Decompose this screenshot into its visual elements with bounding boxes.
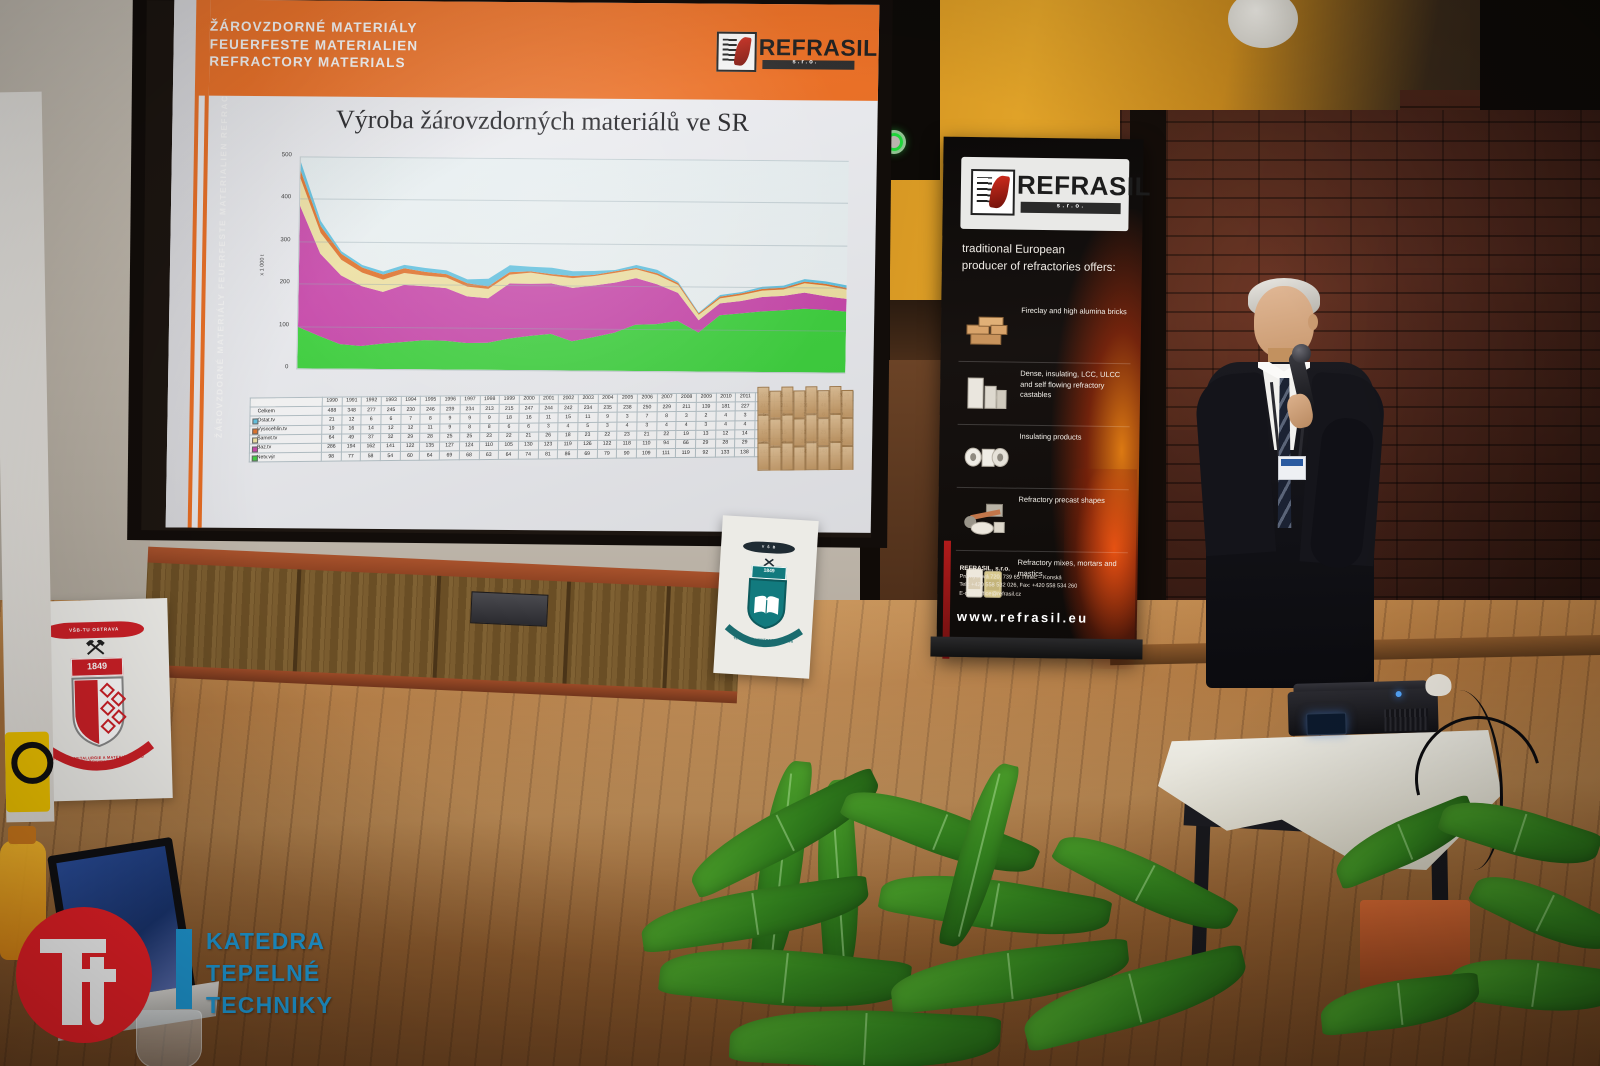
table-cell: 119	[558, 441, 578, 450]
table-cell: 3	[538, 422, 558, 431]
table-cell: 211	[677, 403, 697, 412]
table-year-header: 2009	[696, 393, 716, 402]
table-cell: 74	[518, 450, 538, 459]
banner-logo-panel: REFRASIL s.r.o.	[960, 157, 1129, 231]
banner-product-label: Insulating products	[1019, 432, 1129, 444]
chart-plot-area	[296, 156, 849, 373]
plaque-crossed-hammers-icon	[762, 554, 777, 565]
refractory-brick	[769, 419, 781, 447]
table-year-header: 1993	[381, 396, 401, 405]
table-cell: 122	[597, 440, 617, 449]
table-cell: 8	[479, 423, 499, 432]
presenter	[1196, 278, 1382, 688]
table-year-header: 2000	[519, 395, 539, 404]
refractory-brick	[757, 387, 769, 415]
table-cell: 126	[577, 440, 597, 449]
table-cell: 19	[676, 430, 696, 439]
wall-speaker	[470, 591, 548, 626]
foreground-plant	[640, 740, 1260, 1066]
precast-shapes-icon	[962, 498, 1009, 539]
table-year-header: 2006	[637, 394, 657, 403]
table-cell: 23	[479, 432, 499, 441]
vsb-top-ribbon: VŠB-TU OSTRAVA	[44, 621, 144, 640]
table-cell: 28	[420, 433, 440, 442]
table-cell: 162	[361, 443, 381, 452]
table-cell: 18	[499, 414, 519, 423]
watermark-line-1: KATEDRA	[206, 925, 333, 957]
banner-product-label: Refractory precast shapes	[1019, 495, 1129, 507]
watermark-logo-circle	[16, 907, 152, 1043]
refractory-brick	[829, 386, 841, 414]
table-cell: 245	[381, 406, 401, 415]
refractory-brick	[781, 415, 793, 443]
presentation-slide: ŽÁROVZDORNÉ MATERIÁLY FEUERFESTE MATERIA…	[166, 0, 880, 533]
table-cell: 22	[656, 430, 676, 439]
refractory-brick	[817, 418, 829, 446]
table-cell: 130	[518, 441, 538, 450]
refractory-brick	[817, 390, 829, 418]
chart-y-tick: 400	[257, 194, 291, 200]
table-cell: 9	[440, 423, 460, 432]
chart-y-tick: 500	[258, 152, 292, 158]
banner-product-item: Insulating products	[957, 424, 1130, 489]
refractory-brick	[793, 418, 805, 446]
refractory-brick	[793, 390, 805, 418]
table-cell: 18	[558, 431, 578, 440]
refractory-brick	[829, 442, 841, 470]
table-cell: 9	[440, 414, 460, 423]
table-cell: 118	[617, 440, 637, 449]
refractory-brick	[757, 443, 769, 471]
refractory-brick	[769, 447, 781, 471]
slide-header-line-de: FEUERFESTE MATERIALIEN	[210, 35, 419, 54]
refrasil-mark-icon	[716, 32, 757, 72]
banner-refrasil-mark-icon	[971, 169, 1016, 216]
watermark-letter-t-stem	[90, 957, 104, 1025]
wood-cabinet	[142, 547, 742, 704]
table-cell: 13	[696, 430, 716, 439]
slide-refrasil-logo: REFRASIL s.r.o.	[716, 32, 857, 75]
refractory-brick	[793, 446, 805, 470]
refractory-brick	[781, 387, 793, 415]
table-cell: 29	[735, 439, 754, 448]
table-cell: 4	[676, 421, 696, 430]
table-year-header: 2008	[677, 393, 697, 402]
table-cell: 26	[538, 432, 558, 441]
vsb-year-badge: 1849	[71, 657, 123, 676]
table-cell: 29	[400, 433, 420, 442]
projector-lens-icon	[1306, 712, 1347, 735]
table-cell: 11	[578, 413, 598, 422]
banner-contact-block: REFRASIL, s.r.o. Průmyslová 720, 739 65 …	[959, 565, 1119, 600]
conference-badge	[1278, 456, 1306, 480]
table-cell: 4	[657, 421, 677, 430]
table-cell: 5	[578, 422, 598, 431]
table-cell: 14	[361, 424, 381, 433]
vsb-plaque-board: V Š B 1849 TECHNICKÁ UNIVERZITA OSTRAVA	[713, 515, 818, 679]
table-cell: 12	[342, 415, 362, 424]
refractory-brick	[805, 442, 817, 470]
table-cell: 122	[400, 442, 420, 451]
table-cell: 64	[499, 450, 519, 459]
chart-y-tick: 0	[254, 364, 288, 370]
table-year-header: 1996	[440, 396, 460, 405]
table-cell: 139	[696, 402, 716, 411]
table-cell: 3	[617, 412, 637, 421]
table-cell: 6	[519, 423, 539, 432]
table-cell: 25	[459, 432, 479, 441]
table-cell: 127	[440, 442, 460, 451]
watermark-blue-bar	[176, 929, 192, 1009]
watermark-line-2: TEPELNÉ	[206, 957, 333, 989]
table-cell: 37	[361, 433, 381, 442]
table-cell: 11	[420, 424, 440, 433]
table-cell: 94	[656, 439, 676, 448]
table-cell: 32	[381, 433, 401, 442]
table-year-header: 2007	[657, 394, 677, 403]
microphone-head-icon	[1292, 344, 1311, 363]
table-cell: 194	[341, 443, 361, 452]
table-year-header: 2011	[736, 393, 755, 402]
table-year-header: 2004	[598, 394, 618, 403]
table-cell: 92	[695, 448, 715, 457]
watermark-letter-t-bar	[80, 969, 116, 982]
left-banner-yellow-graphic	[5, 732, 50, 813]
table-cell: 8	[460, 423, 480, 432]
table-cell: 3	[676, 412, 696, 421]
table-cell: 66	[676, 439, 696, 448]
insulating-tubes-icon	[963, 435, 1010, 476]
slide-header-text: ŽÁROVZDORNÉ MATERIÁLY FEUERFESTE MATERIA…	[209, 18, 418, 72]
table-cell: 105	[499, 441, 519, 450]
table-cell: 4	[716, 411, 736, 420]
chart-y-axis-label: x 1 000 t	[259, 255, 265, 276]
fireclay-bricks-icon	[965, 309, 1012, 350]
table-cell: 230	[401, 405, 421, 414]
banner-logo-bar: s.r.o.	[1021, 202, 1121, 214]
table-cell: 3	[696, 421, 716, 430]
table-legend-swatch	[252, 419, 258, 425]
table-cell: 2	[696, 412, 716, 421]
projection-screen-frame: ŽÁROVZDORNÉ MATERIÁLY FEUERFESTE MATERIA…	[127, 0, 893, 548]
slide-header-line-cs: ŽÁROVZDORNÉ MATERIÁLY	[210, 18, 419, 37]
table-year-header: 2001	[539, 395, 559, 404]
table-cell: 9	[460, 414, 480, 423]
table-cell: 60	[400, 451, 420, 460]
chart-y-tick: 300	[256, 237, 290, 243]
refrasil-sub-text: s.r.o.	[792, 59, 818, 65]
table-cell: 3	[735, 411, 754, 420]
table-cell: 111	[656, 449, 676, 458]
table-year-header: 1990	[322, 397, 342, 406]
table-cell: 234	[578, 404, 598, 413]
table-cell: 23	[578, 431, 598, 440]
table-cell: 8	[420, 414, 440, 423]
table-cell: 123	[538, 441, 558, 450]
table-cell: 63	[479, 451, 499, 460]
refractory-brick	[769, 391, 781, 419]
refrasil-wordmark: REFRASIL	[758, 34, 877, 62]
table-cell: 141	[380, 442, 400, 451]
table-cell: 15	[558, 413, 578, 422]
table-cell: 239	[440, 405, 460, 414]
conference-room-photo: ŽÁROVZDORNÉ MATERIÁLY FEUERFESTE MATERIA…	[0, 0, 1600, 1066]
watermark-text: KATEDRA TEPELNÉ TECHNIKY	[206, 925, 333, 1021]
plaque-top-text: V Š B	[743, 541, 796, 555]
table-cell: 12	[715, 430, 735, 439]
table-year-header: 1991	[342, 397, 362, 406]
table-cell: 133	[715, 448, 735, 457]
banner-product-label: Dense, insulating, LCC, ULCC and self fl…	[1020, 369, 1130, 402]
plaque-top-ribbon: V Š B	[743, 541, 796, 555]
chart-y-tick: 100	[255, 322, 289, 328]
table-cell: 135	[420, 442, 440, 451]
table-cell: 14	[735, 429, 754, 438]
table-cell: 181	[716, 402, 736, 411]
table-cell: 246	[420, 405, 440, 414]
vsb-bottom-ribbon: FAKULTA METALURGIE A MATERIÁLOVÉHO INŽEN…	[41, 738, 156, 781]
table-cell: 229	[657, 403, 677, 412]
refrasil-rollup-banner: REFRASIL s.r.o. traditional European pro…	[936, 137, 1143, 660]
refractory-brick	[841, 446, 853, 471]
plaque-bottom-ribbon: TECHNICKÁ UNIVERZITA OSTRAVA	[722, 622, 804, 661]
table-year-header: 2002	[559, 395, 579, 404]
table-cell: 58	[361, 452, 381, 461]
table-year-header: 1992	[362, 397, 382, 406]
slide-title: Výroba žárovzdorných materiálů ve SR	[232, 104, 853, 139]
table-cell: 49	[341, 434, 361, 443]
table-cell: 4	[735, 420, 754, 429]
table-cell: 277	[361, 406, 381, 415]
table-cell: 21	[322, 415, 342, 424]
banner-company-name: REFRASIL, s.r.o.	[960, 565, 1011, 573]
banner-product-label: Fireclay and high alumina bricks	[1021, 306, 1131, 318]
table-cell: 215	[499, 404, 519, 413]
table-cell: 6	[361, 415, 381, 424]
vsb-shield-icon	[69, 675, 127, 749]
table-cell: 68	[459, 451, 479, 460]
table-cell: 22	[597, 431, 617, 440]
table-cell: 110	[637, 440, 657, 449]
table-cell: 250	[637, 403, 657, 412]
banner-product-item: Dense, insulating, LCC, ULCC and self fl…	[958, 361, 1131, 426]
table-cell: 3	[597, 422, 617, 431]
refrasil-sub-bar: s.r.o.	[762, 60, 854, 70]
table-cell: 242	[558, 404, 578, 413]
table-cell: 124	[459, 442, 479, 451]
table-cell: 16	[519, 413, 539, 422]
table-cell: 7	[637, 412, 657, 421]
refractory-bricks-photo	[755, 380, 859, 471]
table-cell: 86	[558, 450, 578, 459]
table-cell: 21	[519, 432, 539, 441]
table-cell: 227	[736, 402, 755, 411]
projector-body	[1288, 688, 1439, 736]
table-legend-swatch	[251, 446, 257, 452]
refractory-brick	[757, 415, 769, 443]
watermark-line-3: TECHNIKY	[206, 989, 333, 1021]
table-cell: 79	[597, 449, 617, 458]
table-cell: 3	[637, 421, 657, 430]
slide-header-line-en: REFRACTORY MATERIALS	[209, 53, 418, 72]
table-cell: 138	[735, 448, 754, 457]
table-cell: 21	[637, 431, 657, 440]
banner-website-url: www.refrasil.eu	[957, 609, 1089, 626]
castables-bags-icon	[964, 372, 1011, 413]
table-cell: 348	[342, 406, 362, 415]
table-year-header: 1997	[460, 396, 480, 405]
table-cell: 4	[558, 422, 578, 431]
table-cell: 234	[460, 405, 480, 414]
stacked-area-chart: x 1 000 t 0100200300400500	[254, 152, 858, 397]
table-cell: 12	[400, 424, 420, 433]
chart-y-tick: 200	[256, 279, 290, 285]
table-cell: 81	[538, 450, 558, 459]
video-projector[interactable]	[1287, 680, 1438, 736]
table-year-header: 2010	[716, 393, 736, 402]
table-year-header: 2003	[578, 394, 598, 403]
table-cell: 28	[715, 439, 735, 448]
table-cell: 25	[440, 433, 460, 442]
table-year-header: 1995	[421, 396, 441, 405]
table-cell: 69	[577, 449, 597, 458]
refractory-brick	[805, 386, 817, 414]
banner-tagline: traditional European producer of refract…	[962, 241, 1130, 277]
refractory-brick	[841, 390, 853, 418]
table-cell: 69	[439, 451, 459, 460]
table-year-header: 2005	[618, 394, 638, 403]
table-cell: 6	[381, 415, 401, 424]
table-legend-swatch	[251, 456, 257, 462]
table-cell: 6	[499, 423, 519, 432]
crossed-hammers-icon	[84, 640, 106, 657]
table-cell: 64	[322, 434, 342, 443]
table-cell: 12	[381, 424, 401, 433]
table-cell: 9	[598, 413, 618, 422]
projector-vent	[1384, 708, 1429, 731]
table-legend-swatch	[252, 428, 258, 434]
table-cell: 11	[539, 413, 559, 422]
katedra-tepelne-techniky-watermark: KATEDRA TEPELNÉ TECHNIKY	[8, 895, 348, 1045]
table-legend-swatch	[252, 437, 258, 443]
table-cell: 213	[480, 405, 500, 414]
table-year-header: 1999	[499, 395, 519, 404]
vsb-top-text: VŠB-TU OSTRAVA	[44, 621, 144, 640]
watermark-letter-T-stem	[62, 939, 82, 1025]
table-cell: 77	[341, 452, 361, 461]
table-cell: 29	[696, 439, 716, 448]
banner-product-item: Refractory precast shapes	[956, 487, 1129, 552]
table-cell: 235	[598, 403, 618, 412]
table-cell: 64	[420, 451, 440, 460]
table-cell: 16	[341, 424, 361, 433]
table-cell: 98	[321, 452, 341, 461]
table-cell: 9	[479, 414, 499, 423]
table-cell: 4	[617, 422, 637, 431]
table-cell: 19	[322, 425, 342, 434]
table-cell: 4	[716, 420, 736, 429]
table-cell: 54	[380, 452, 400, 461]
banner-tagline-line-2: producer of refractories offers:	[962, 258, 1130, 277]
banner-base	[930, 636, 1142, 659]
table-cell: 238	[617, 403, 637, 412]
refractory-brick	[829, 414, 841, 442]
table-cell: 7	[401, 415, 421, 424]
paper-cup	[1425, 674, 1452, 697]
banner-logo-sub-text: s.r.o.	[1057, 203, 1086, 209]
presenter-ear	[1308, 314, 1318, 330]
refractory-brick	[817, 446, 829, 471]
table-year-header: 1998	[480, 395, 500, 404]
refractory-brick	[805, 414, 817, 442]
bottle-cap	[8, 826, 36, 844]
table-cell: 22	[499, 432, 519, 441]
table-cell: 244	[539, 404, 559, 413]
table-cell: 247	[519, 404, 539, 413]
refractory-brick	[781, 442, 793, 470]
potted-plant-right	[1320, 800, 1600, 1066]
table-cell: 286	[321, 443, 341, 452]
refractory-brick	[841, 418, 853, 446]
table-cell: 8	[657, 412, 677, 421]
banner-refrasil-wordmark: REFRASIL	[1017, 170, 1151, 203]
table-cell: 119	[676, 448, 696, 457]
table-cell: 110	[479, 441, 499, 450]
table-cell: 109	[636, 449, 656, 458]
table-cell: 90	[617, 449, 637, 458]
table-year-header: 1994	[401, 396, 421, 405]
presenter-left-shoulder	[1194, 372, 1276, 556]
banner-product-item: Fireclay and high alumina bricks	[959, 299, 1132, 363]
table-cell: 488	[322, 406, 342, 415]
table-cell: 23	[617, 431, 637, 440]
table-row-label: Netv.výr	[249, 452, 321, 462]
